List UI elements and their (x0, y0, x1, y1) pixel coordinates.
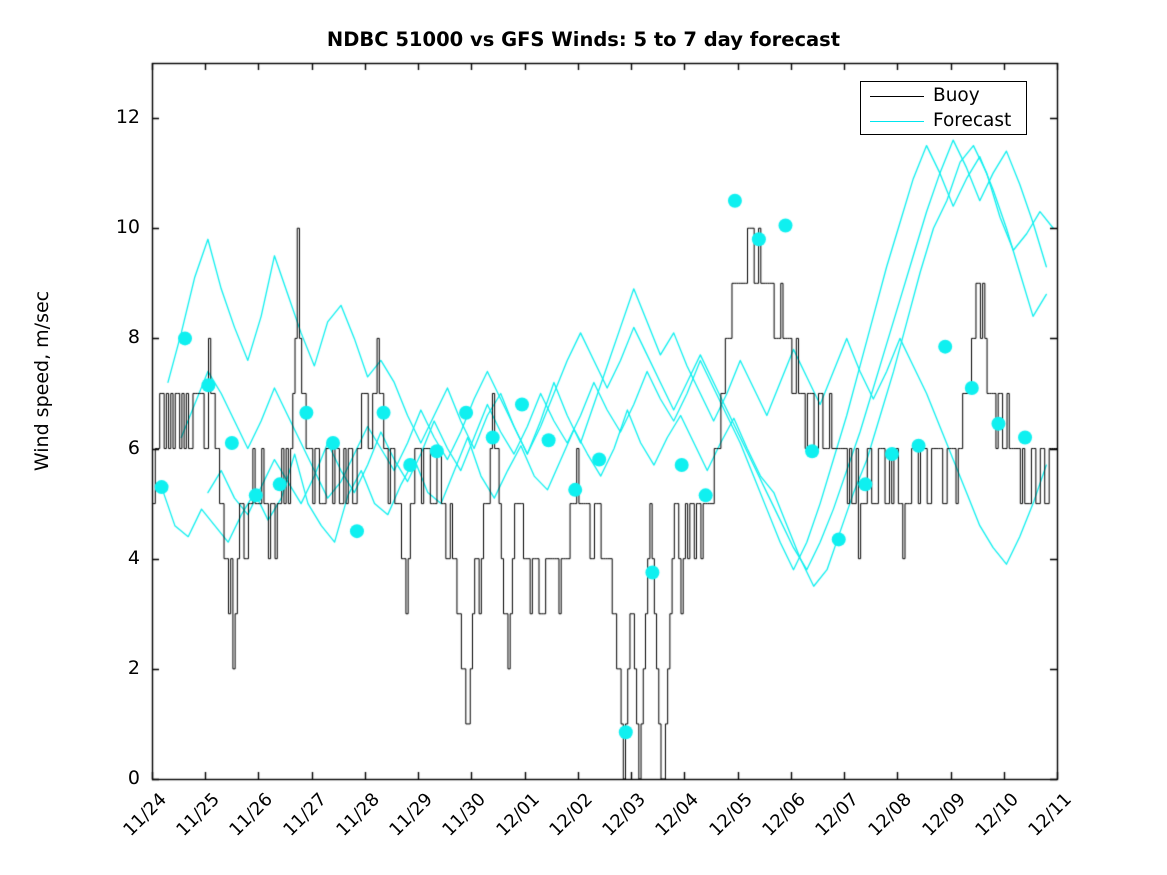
chart-legend: Buoy Forecast (860, 81, 1027, 135)
legend-item-forecast: Forecast (861, 108, 1026, 134)
y-tick-label: 0 (100, 767, 140, 789)
chart-figure: NDBC 51000 vs GFS Winds: 5 to 7 day fore… (0, 0, 1167, 875)
legend-item-buoy: Buoy (861, 83, 1026, 109)
y-tick-label: 10 (100, 216, 140, 238)
y-axis-label: Wind speed, m/sec (31, 171, 53, 591)
y-tick-label: 8 (100, 326, 140, 348)
chart-title: NDBC 51000 vs GFS Winds: 5 to 7 day fore… (0, 28, 1167, 51)
y-tick-label: 4 (100, 547, 140, 569)
y-tick-label: 12 (100, 106, 140, 128)
y-tick-label: 2 (100, 657, 140, 679)
legend-label-buoy: Buoy (933, 87, 980, 106)
legend-swatch-forecast (870, 121, 924, 122)
legend-label-forecast: Forecast (933, 112, 1011, 131)
y-tick-label: 6 (100, 437, 140, 459)
legend-swatch-buoy (870, 96, 924, 97)
